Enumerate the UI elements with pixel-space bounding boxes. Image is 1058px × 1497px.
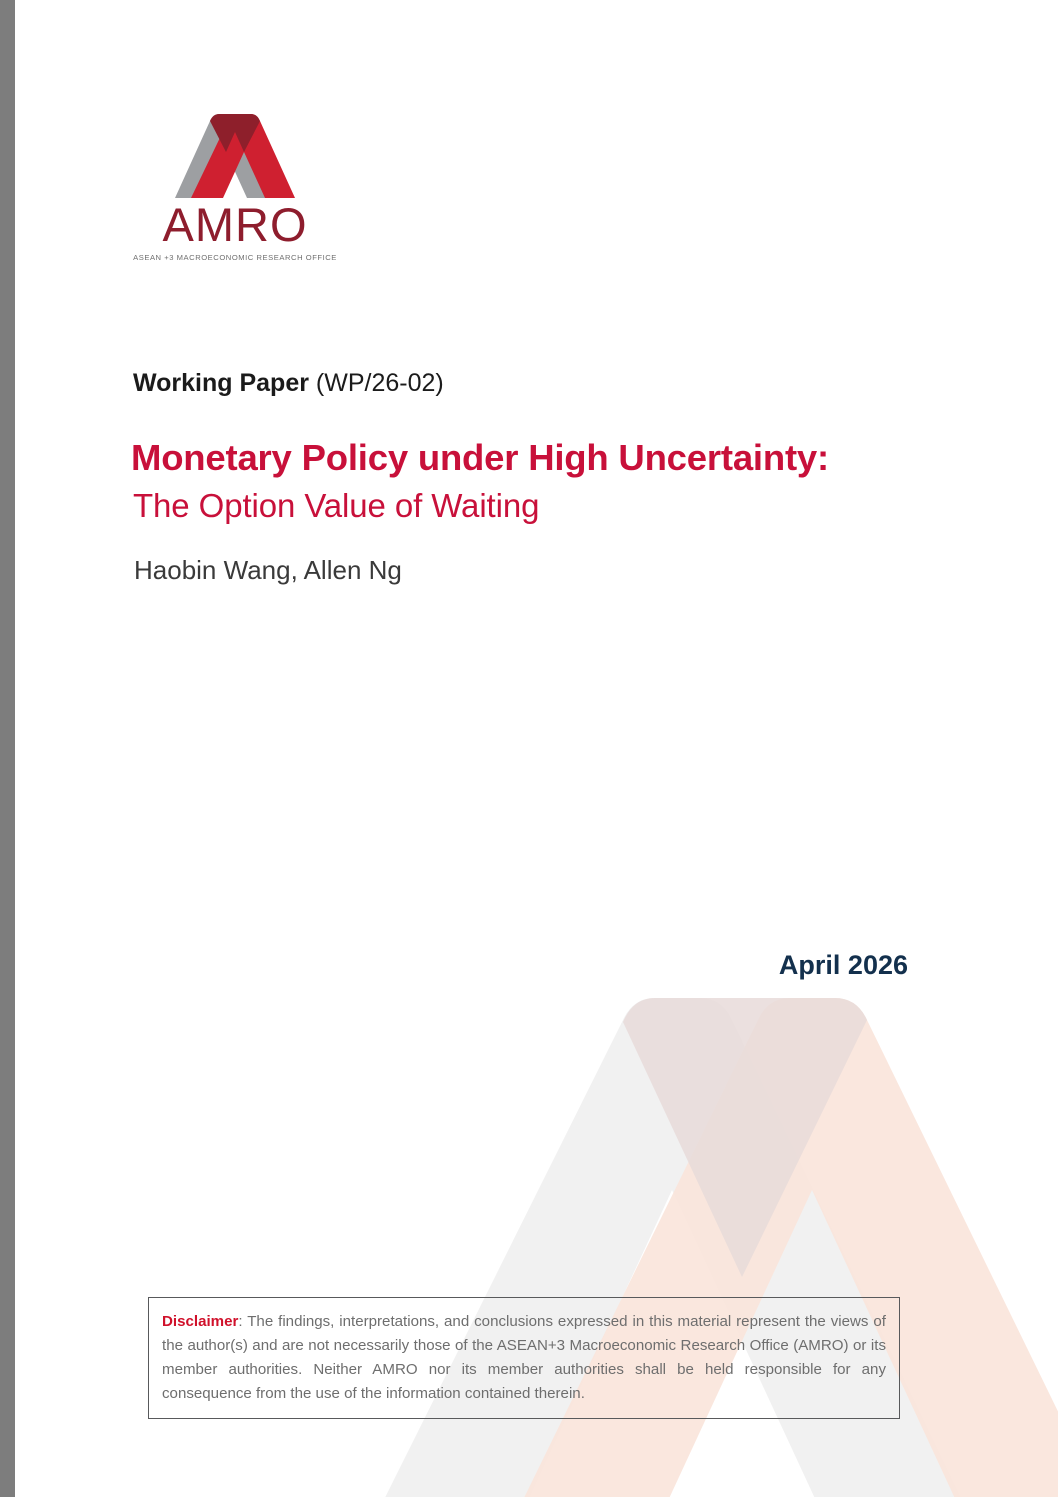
amro-chevron-mark (175, 112, 295, 200)
author-line: Haobin Wang, Allen Ng (134, 555, 402, 586)
page-canvas: AMRO ASEAN +3 MACROECONOMIC RESEARCH OFF… (0, 0, 1058, 1497)
disclaimer-text: Disclaimer: The findings, interpretation… (162, 1310, 886, 1405)
paper-title: Monetary Policy under High Uncertainty: (131, 437, 829, 479)
svg-text:AMRO: AMRO (163, 202, 308, 250)
working-paper-line: Working Paper (WP/26-02) (133, 369, 444, 398)
series-id: (WP/26-02) (316, 369, 444, 397)
disclaimer-body: The findings, interpretations, and concl… (162, 1313, 886, 1402)
disclaimer-separator: : (238, 1313, 247, 1330)
amro-tagline: ASEAN +3 MACROECONOMIC RESEARCH OFFICE (120, 253, 350, 262)
amro-logo: AMRO ASEAN +3 MACROECONOMIC RESEARCH OFF… (120, 112, 350, 262)
disclaimer-label: Disclaimer (162, 1313, 238, 1330)
publication-date: April 2026 (0, 950, 908, 981)
disclaimer-box: Disclaimer: The findings, interpretation… (148, 1297, 900, 1419)
series-label: Working Paper (133, 369, 309, 397)
page-edge-bar (0, 0, 15, 1497)
paper-subtitle: The Option Value of Waiting (133, 487, 539, 525)
amro-wordmark: AMRO (135, 202, 335, 250)
